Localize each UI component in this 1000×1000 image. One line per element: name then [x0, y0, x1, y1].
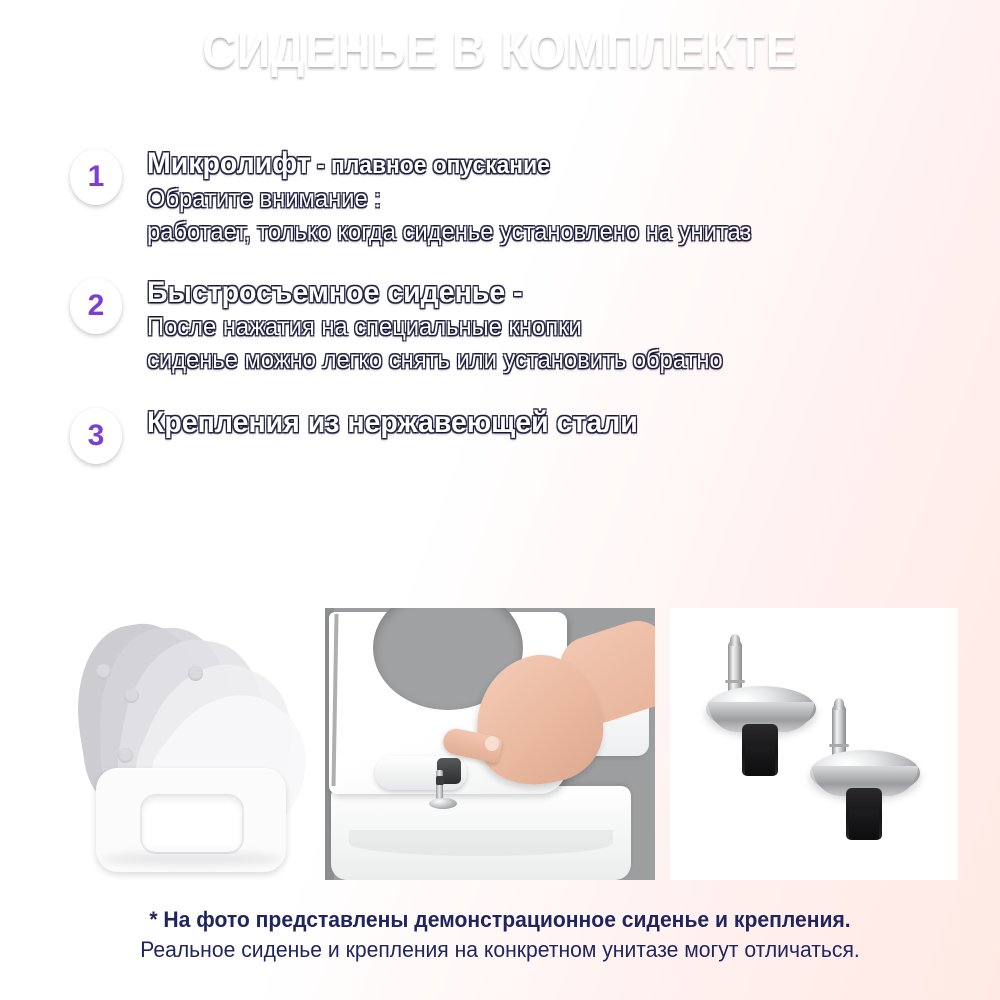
footer-disclaimer: * На фото представлены демонстрационное …	[0, 906, 1000, 964]
feature-badge-2: 2	[70, 278, 122, 334]
feature-heading-bold-3: Крепления из нержавеющей стали	[147, 406, 638, 439]
stainless-hinges-photo	[670, 608, 958, 880]
feature-badge-3: 3	[70, 408, 122, 464]
promo-poster: СИДЕНЬЕ В КОМПЛЕКТЕ 1 Микролифт - плавно…	[0, 0, 1000, 1000]
quick-release-hand-photo	[325, 608, 655, 880]
seat-bumper-icon	[188, 666, 203, 681]
feature-heading-1: Микролифт - плавное опускание	[147, 146, 751, 183]
feature-text-3: Крепления из нержавеющей стали	[147, 405, 664, 442]
feature-line-1-1: Обратите внимание :	[147, 183, 751, 216]
feature-heading-2: Быстросъемное сиденье -	[147, 275, 723, 312]
feature-badge-1: 1	[70, 149, 122, 205]
feature-line-1-2: работает, только когда сиденье установле…	[147, 216, 751, 249]
seat-bumper-icon	[96, 664, 111, 679]
feature-line-2-1: После нажатия на специальные кнопки	[147, 311, 723, 344]
feature-item-2: 2 Быстросъемное сиденье - После нажатия …	[70, 275, 1000, 378]
feature-line-2-2: сиденье можно легко снять или установить…	[147, 344, 723, 377]
feature-heading-bold-2: Быстросъемное сиденье -	[147, 276, 523, 309]
feature-list: 1 Микролифт - плавное опускание Обратите…	[70, 146, 1000, 488]
feature-item-1: 1 Микролифт - плавное опускание Обратите…	[70, 146, 1000, 249]
seat-shadow	[100, 852, 284, 866]
feature-text-2: Быстросъемное сиденье - После нажатия на…	[147, 275, 753, 378]
feature-text-1: Микролифт - плавное опускание Обратите в…	[147, 146, 783, 249]
feature-heading-bold-1: Микролифт	[147, 147, 311, 180]
feature-heading-rest-1: - плавное опускание	[311, 152, 550, 179]
seat-bumper-icon	[118, 748, 133, 763]
toilet-bowl-rim	[331, 786, 631, 880]
footer-line-1: * На фото представлены демонстрационное …	[20, 906, 980, 935]
page-title: СИДЕНЬЕ В КОМПЛЕКТЕ	[35, 24, 965, 77]
feature-item-3: 3 Крепления из нержавеющей стали	[70, 405, 1000, 464]
seat-bumper-icon	[124, 688, 139, 703]
toilet-seat-softclose-photo	[52, 608, 310, 880]
feature-heading-3: Крепления из нержавеющей стали	[147, 405, 638, 442]
photo-gallery	[52, 608, 958, 880]
footer-line-2: Реальное сиденье и крепления на конкретн…	[20, 935, 980, 964]
